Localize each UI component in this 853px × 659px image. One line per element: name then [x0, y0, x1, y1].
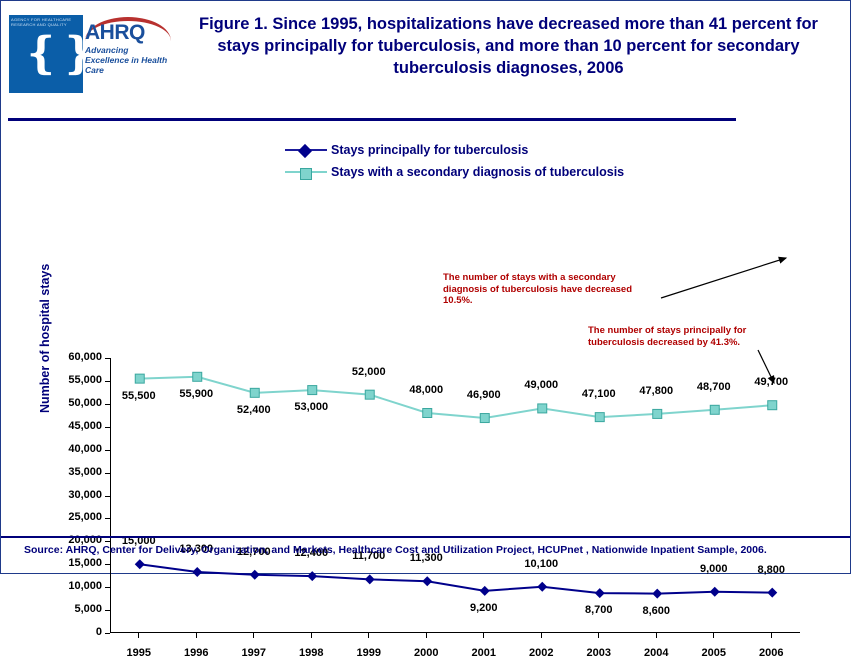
x-tick-label: 1995 — [109, 647, 169, 659]
page-header: AGENCY FOR HEALTHCARE RESEARCH AND QUALI… — [1, 1, 850, 113]
x-tick-label: 2001 — [454, 647, 514, 659]
y-tick-label: 15,000 — [32, 557, 102, 569]
x-tick-label: 2006 — [741, 647, 801, 659]
data-point-marker — [135, 559, 145, 569]
data-label-principal: 8,600 — [628, 605, 684, 617]
swoosh-icon: ❴❵ — [23, 27, 69, 81]
y-tick-mark — [105, 633, 110, 634]
y-tick-label: 0 — [32, 626, 102, 638]
chart-container: Number of hospital stays 05,00010,00015,… — [0, 170, 853, 500]
y-tick-label: 5,000 — [32, 603, 102, 615]
x-tick-label: 2000 — [396, 647, 456, 659]
x-tick-label: 1996 — [166, 647, 226, 659]
legend-label-principal: Stays principally for tuberculosis — [331, 143, 528, 157]
footer-divider — [1, 536, 850, 538]
x-tick-label: 2003 — [569, 647, 629, 659]
x-tick-mark — [541, 633, 542, 638]
ahrq-wordmark-block: AHRQ Advancing Excellence in Health Care — [83, 15, 174, 93]
x-tick-mark — [196, 633, 197, 638]
data-point-marker — [537, 582, 547, 592]
data-point-marker — [767, 588, 777, 598]
source-note: Source: AHRQ, Center for Delivery, Organ… — [24, 544, 834, 556]
ahrq-seal: AGENCY FOR HEALTHCARE RESEARCH AND QUALI… — [9, 15, 83, 93]
x-tick-mark — [138, 633, 139, 638]
x-tick-mark — [656, 633, 657, 638]
series-line-principal — [140, 564, 773, 593]
data-label-principal: 9,200 — [456, 602, 512, 614]
data-label-principal: 9,000 — [686, 563, 742, 575]
x-tick-label: 1998 — [281, 647, 341, 659]
x-tick-label: 1999 — [339, 647, 399, 659]
x-tick-label: 2004 — [626, 647, 686, 659]
x-tick-label: 1997 — [224, 647, 284, 659]
data-label-principal: 8,700 — [571, 604, 627, 616]
y-tick-label: 25,000 — [32, 511, 102, 523]
data-point-marker — [595, 588, 605, 598]
data-point-marker — [710, 587, 720, 597]
x-tick-mark — [253, 633, 254, 638]
data-point-marker — [480, 586, 490, 596]
legend-line-principal-icon — [285, 149, 327, 151]
diamond-marker-icon — [298, 144, 312, 158]
page-title: Figure 1. Since 1995, hospitalizations h… — [181, 13, 836, 79]
x-tick-mark — [598, 633, 599, 638]
ahrq-wordmark: AHRQ — [85, 21, 173, 45]
data-label-principal: 8,800 — [743, 564, 799, 576]
x-tick-mark — [713, 633, 714, 638]
y-tick-label: 10,000 — [32, 580, 102, 592]
x-tick-label: 2005 — [684, 647, 744, 659]
annotation-arrows — [0, 170, 853, 500]
x-tick-mark — [483, 633, 484, 638]
data-point-marker — [307, 571, 317, 581]
x-tick-label: 2002 — [511, 647, 571, 659]
ahrq-tagline: Advancing Excellence in Health Care — [85, 45, 173, 75]
legend-item-principal: Stays principally for tuberculosis — [285, 139, 705, 161]
x-tick-mark — [426, 633, 427, 638]
data-point-marker — [652, 589, 662, 599]
x-tick-mark — [311, 633, 312, 638]
x-tick-mark — [368, 633, 369, 638]
ahrq-logo: AGENCY FOR HEALTHCARE RESEARCH AND QUALI… — [9, 15, 174, 93]
data-label-principal: 10,100 — [513, 558, 569, 570]
data-point-marker — [422, 576, 432, 586]
x-tick-mark — [771, 633, 772, 638]
data-point-marker — [250, 570, 260, 580]
header-divider — [8, 118, 736, 121]
